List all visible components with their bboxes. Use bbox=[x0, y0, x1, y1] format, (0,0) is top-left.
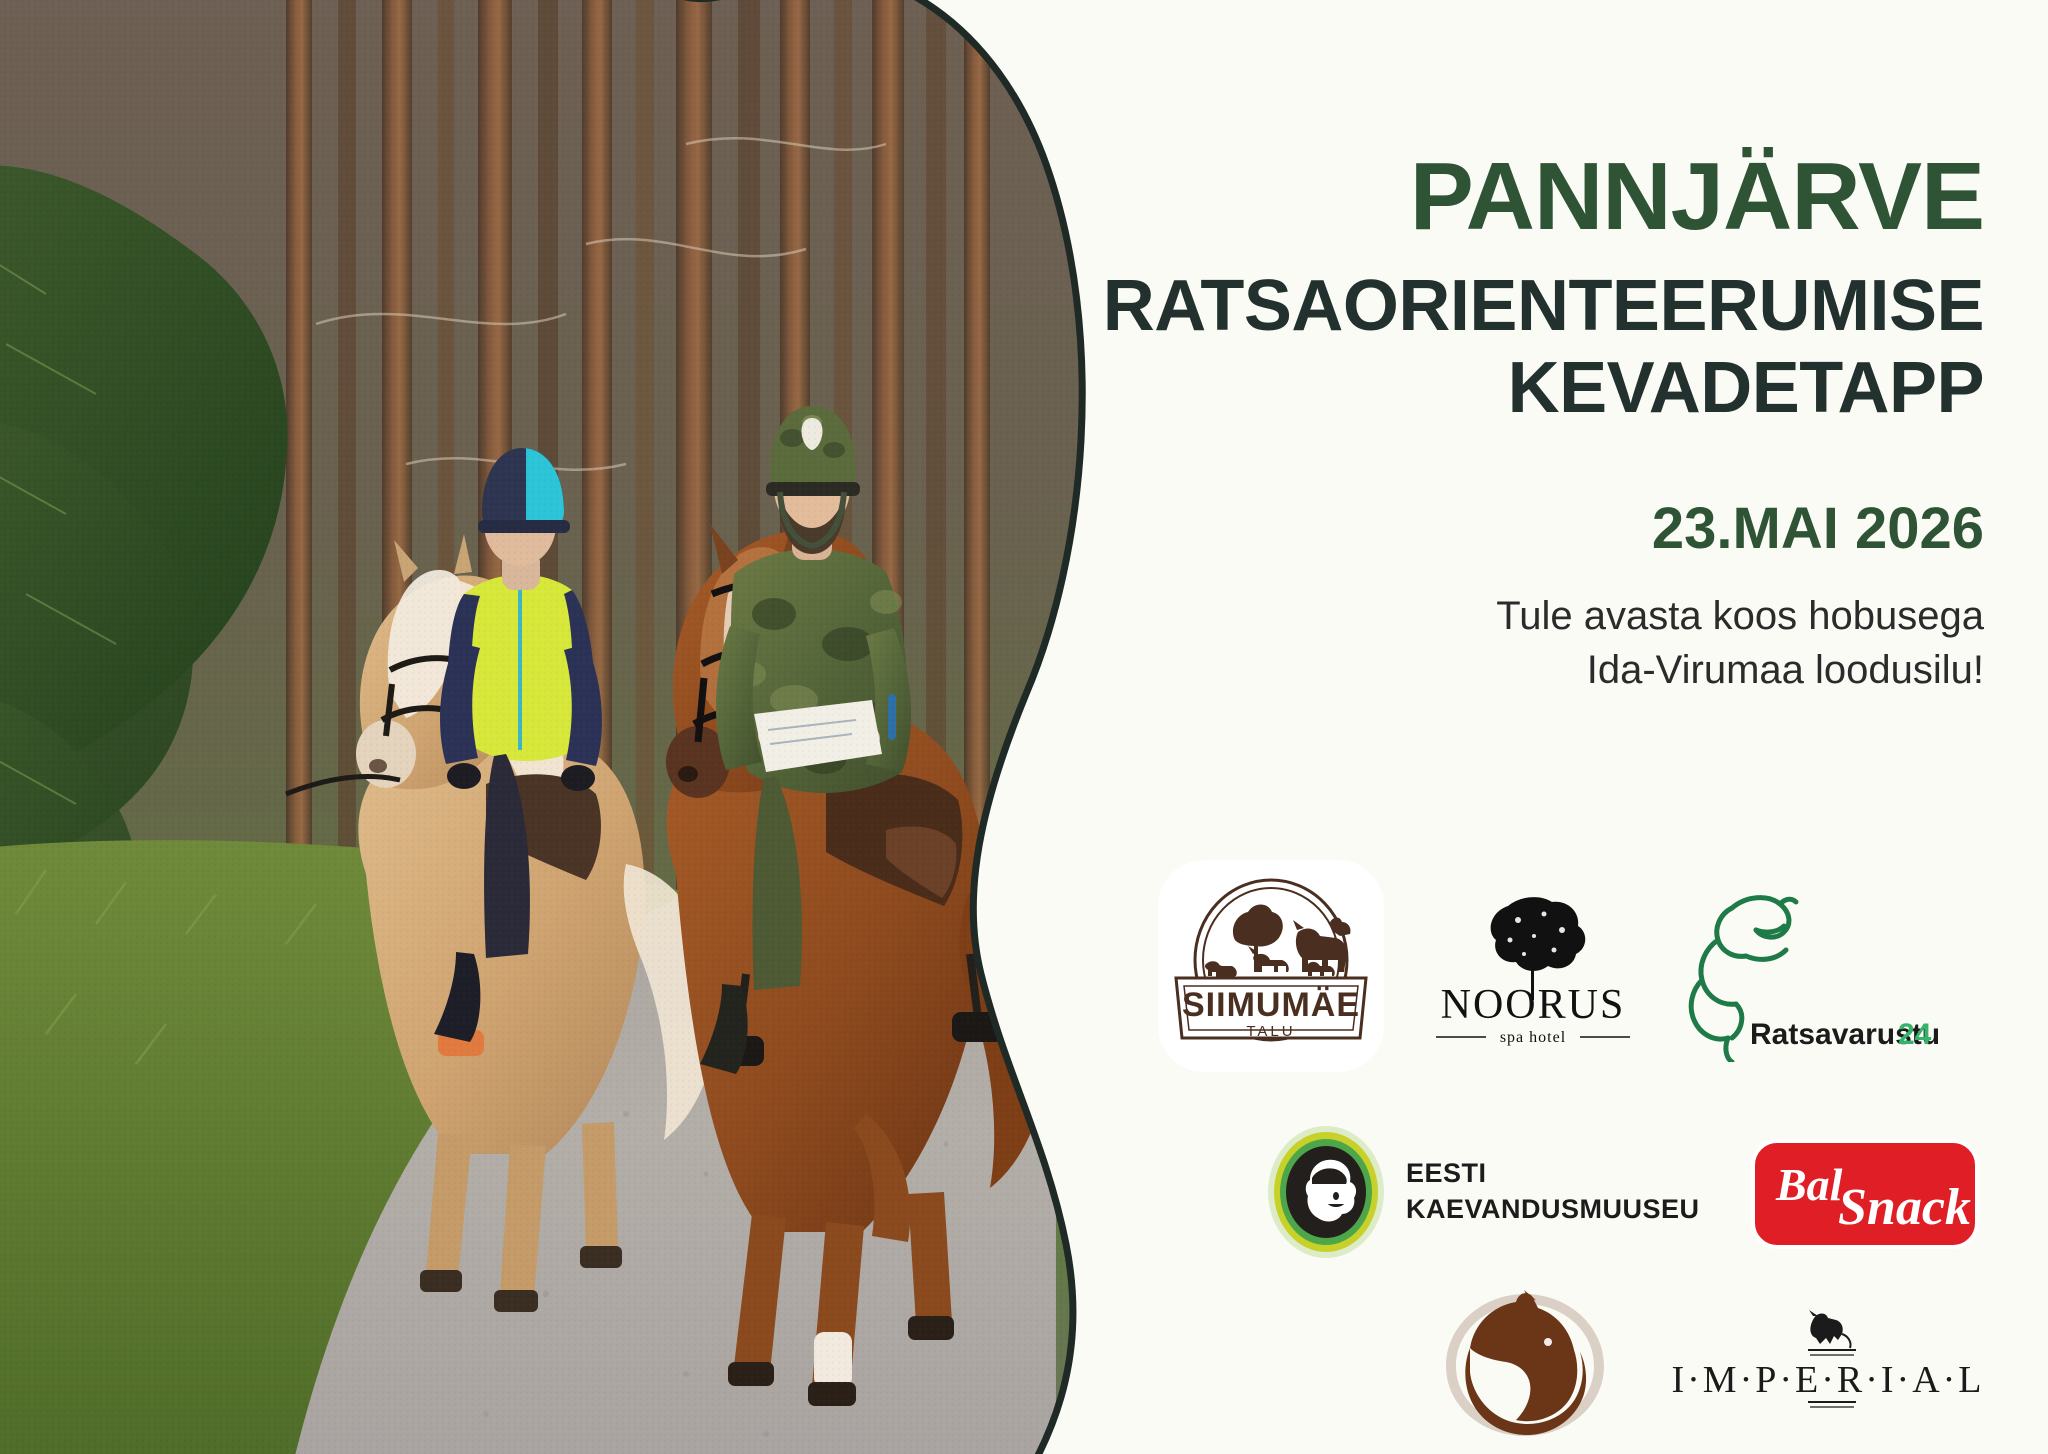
svg-text:Snack: Snack bbox=[1838, 1179, 1971, 1236]
balsnack-icon: Bal Snack bbox=[1750, 1138, 1980, 1250]
page-title-line3: KEVADETAPP bbox=[900, 344, 1984, 425]
svg-text:spa hotel: spa hotel bbox=[1500, 1029, 1566, 1046]
sponsor-logo-noorus-spa-hotel[interactable]: NOORUS spa hotel bbox=[1422, 892, 1644, 1052]
horse-head-icon bbox=[1440, 1290, 1610, 1440]
noorus-spa-hotel-icon: NOORUS spa hotel bbox=[1422, 892, 1644, 1052]
headline-block: PANNJÄRVE RATSAORIENTEERUMISE KEVADETAPP… bbox=[900, 0, 2020, 660]
ratsavarustus24-icon: Ratsavarustus 24 bbox=[1680, 882, 1938, 1062]
tagline-line1: Tule avasta koos hobusega bbox=[1496, 594, 1984, 638]
svg-text:NOORUS: NOORUS bbox=[1441, 982, 1626, 1028]
imperial-icon: I·M·P·E·R·I·A·L bbox=[1658, 1310, 1998, 1420]
svg-text:KAEVANDUSMUUSEUM: KAEVANDUSMUUSEUM bbox=[1406, 1194, 1700, 1224]
svg-text:I·M·P·E·R·I·A·L: I·M·P·E·R·I·A·L bbox=[1671, 1359, 1984, 1401]
svg-text:Bal: Bal bbox=[1775, 1159, 1843, 1210]
page-title-line2: RATSAORIENTEERUMISE bbox=[900, 244, 1984, 343]
event-tagline: Tule avasta koos hobusega Ida-Virumaa lo… bbox=[900, 562, 1984, 697]
sponsor-logo-ratsavarustus24[interactable]: Ratsavarustus 24 bbox=[1680, 882, 1938, 1062]
siimumae-talu-icon: SIIMUMÄE TALU bbox=[1158, 860, 1384, 1072]
sponsor-logo-grid: SIIMUMÄE TALU NOORUS spa hotel bbox=[1150, 860, 2030, 1440]
svg-text:EESTI: EESTI bbox=[1406, 1158, 1487, 1188]
svg-text:24: 24 bbox=[1898, 1018, 1932, 1051]
svg-text:TALU: TALU bbox=[1246, 1023, 1295, 1040]
sponsor-logo-balsnack[interactable]: Bal Snack bbox=[1750, 1138, 1980, 1250]
event-date: 23.MAI 2026 bbox=[900, 425, 1984, 562]
sponsor-logo-imperial[interactable]: I·M·P·E·R·I·A·L bbox=[1658, 1310, 1998, 1420]
sponsor-logo-eesti-kaevandusmuuseum[interactable]: EESTI KAEVANDUSMUUSEUM bbox=[1260, 1122, 1700, 1262]
sponsor-logo-horse-head[interactable] bbox=[1440, 1290, 1610, 1440]
eesti-kaevandusmuuseum-icon: EESTI KAEVANDUSMUUSEUM bbox=[1260, 1122, 1700, 1262]
page-title-line1: PANNJÄRVE bbox=[900, 0, 1984, 244]
event-poster: PANNJÄRVE RATSAORIENTEERUMISE KEVADETAPP… bbox=[0, 0, 2048, 1448]
svg-text:SIIMUMÄE: SIIMUMÄE bbox=[1182, 986, 1360, 1024]
tagline-line2: Ida-Virumaa loodusilu! bbox=[1587, 648, 1984, 692]
sponsor-logo-siimumae-talu[interactable]: SIIMUMÄE TALU bbox=[1158, 860, 1384, 1072]
